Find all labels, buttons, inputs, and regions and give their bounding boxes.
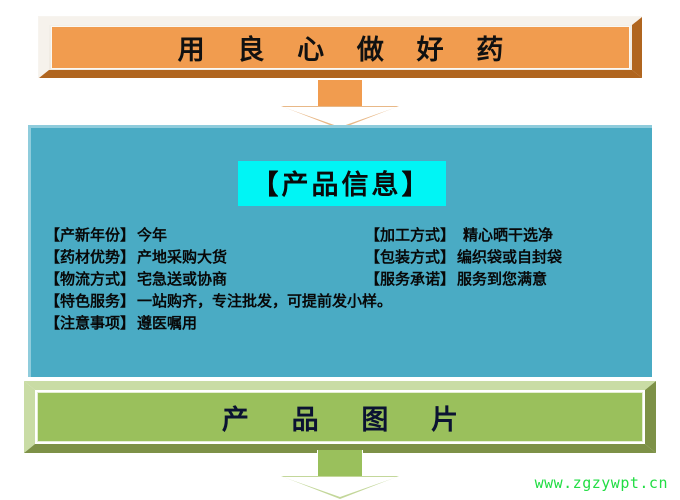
banner-bevel-left <box>39 17 49 78</box>
info-cell-left: 【药材优势】 产地采购大货 <box>45 246 365 267</box>
banner-bevel-top <box>24 381 656 390</box>
product-info-heading-wrap: 【产品信息】 <box>31 161 652 206</box>
arrow-shaft <box>317 80 363 109</box>
info-value: 产地采购大货 <box>137 246 227 267</box>
info-label: 【产新年份】 <box>45 224 135 245</box>
slogan-banner-inner: 用 良 心 做 好 药 <box>51 26 630 69</box>
info-row: 【特色服务】 一站购齐，专注批发，可提前发小样。 <box>45 290 644 312</box>
info-row: 【注意事项】 遵医嘱用 <box>45 312 644 334</box>
down-arrow-orange-icon <box>281 80 399 128</box>
banner-bevel-bottom <box>39 70 642 78</box>
slogan-banner: 用 良 心 做 好 药 <box>38 16 642 78</box>
info-cell-left: 【物流方式】 宅急送或协商 <box>45 268 365 289</box>
info-row: 【物流方式】 宅急送或协商 【服务承诺】 服务到您满意 <box>45 268 644 290</box>
promo-banner-stage: 用 良 心 做 好 药 【产品信息】 【产新年份】 今年 【加工方式】 精心晒干… <box>0 0 680 500</box>
info-label: 【加工方式】 <box>365 224 455 245</box>
info-row: 【药材优势】 产地采购大货 【包装方式】 编织袋或自封袋 <box>45 246 644 268</box>
arrow-head <box>283 477 397 497</box>
info-label: 【注意事项】 <box>45 312 135 333</box>
slogan-text: 用 良 心 做 好 药 <box>165 28 517 67</box>
info-value: 服务到您满意 <box>457 268 547 289</box>
arrow-head <box>283 107 397 127</box>
info-label: 【药材优势】 <box>45 246 135 267</box>
product-image-banner-inner: 产 品 图 片 <box>37 392 643 442</box>
down-arrow-green-icon <box>281 450 399 498</box>
info-label: 【服务承诺】 <box>365 268 455 289</box>
product-info-heading: 【产品信息】 <box>238 161 446 206</box>
info-label: 【包装方式】 <box>365 246 455 267</box>
info-cell-right: 【服务承诺】 服务到您满意 <box>365 268 547 289</box>
info-value: 编织袋或自封袋 <box>457 246 562 267</box>
info-value: 遵医嘱用 <box>137 312 197 333</box>
banner-bevel-left <box>24 381 35 453</box>
info-cell-left: 【产新年份】 今年 <box>45 224 365 245</box>
banner-bevel-right <box>632 17 642 78</box>
info-value: 一站购齐，专注批发，可提前发小样。 <box>137 290 392 311</box>
product-info-rows: 【产新年份】 今年 【加工方式】 精心晒干选净 【药材优势】 产地采购大货 【包… <box>45 224 644 334</box>
info-label: 【物流方式】 <box>45 268 135 289</box>
banner-bevel-top <box>39 17 642 25</box>
info-label: 【特色服务】 <box>45 290 135 311</box>
product-image-banner: 产 品 图 片 <box>24 381 656 453</box>
info-value: 宅急送或协商 <box>137 268 227 289</box>
product-info-panel: 【产品信息】 【产新年份】 今年 【加工方式】 精心晒干选净 【药材优势】 产地… <box>28 125 652 377</box>
info-value: 精心晒干选净 <box>463 224 553 245</box>
site-watermark: www.zgzywpt.cn <box>535 474 668 492</box>
info-cell-right: 【加工方式】 精心晒干选净 <box>365 224 553 245</box>
arrow-shaft <box>317 450 363 479</box>
info-cell-right: 【包装方式】 编织袋或自封袋 <box>365 246 562 267</box>
info-value: 今年 <box>137 224 167 245</box>
product-image-text: 产 品 图 片 <box>204 398 476 437</box>
info-row: 【产新年份】 今年 【加工方式】 精心晒干选净 <box>45 224 644 246</box>
banner-bevel-right <box>645 381 656 453</box>
